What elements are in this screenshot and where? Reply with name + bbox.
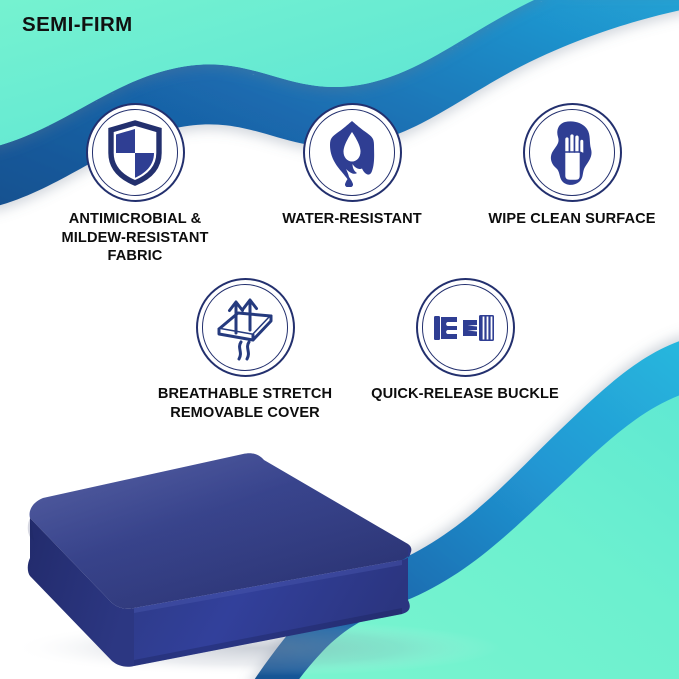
shield-water-droplet-icon	[324, 119, 380, 187]
shield-check-pattern-icon	[106, 120, 164, 186]
badge-ring-wipe-clean	[523, 103, 622, 202]
feature-label-quick-release: QUICK-RELEASE BUCKLE	[371, 385, 559, 404]
feature-antimicrobial: ANTIMICROBIAL & MILDEW-RESISTANT FABRIC	[35, 103, 235, 266]
feature-label-breathable-cover: BREATHABLE STRETCH REMOVABLE COVER	[158, 385, 332, 422]
feature-breathable-cover: BREATHABLE STRETCH REMOVABLE COVER	[145, 278, 345, 422]
badge-ring-antimicrobial	[86, 103, 185, 202]
badge-ring-breathable-cover	[196, 278, 295, 377]
feature-label-water-resistant: WATER-RESISTANT	[282, 210, 422, 229]
feature-wipe-clean: WIPE CLEAN SURFACE	[472, 103, 672, 229]
feature-label-wipe-clean: WIPE CLEAN SURFACE	[488, 210, 655, 229]
breathable-airflow-arrows-icon	[214, 295, 276, 361]
product-feature-infographic: SEMI-FIRM	[0, 0, 679, 679]
product-firmness-title: SEMI-FIRM	[22, 13, 133, 37]
badge-ring-water-resistant	[303, 103, 402, 202]
badge-ring-quick-release	[416, 278, 515, 377]
product-photo-navy-cushion	[0, 432, 540, 679]
feature-quick-release: QUICK-RELEASE BUCKLE	[365, 278, 565, 404]
hand-wiping-cloth-icon	[543, 120, 601, 186]
feature-label-antimicrobial: ANTIMICROBIAL & MILDEW-RESISTANT FABRIC	[62, 210, 209, 266]
feature-water-resistant: WATER-RESISTANT	[252, 103, 452, 229]
quick-release-buckle-icon	[433, 306, 497, 350]
